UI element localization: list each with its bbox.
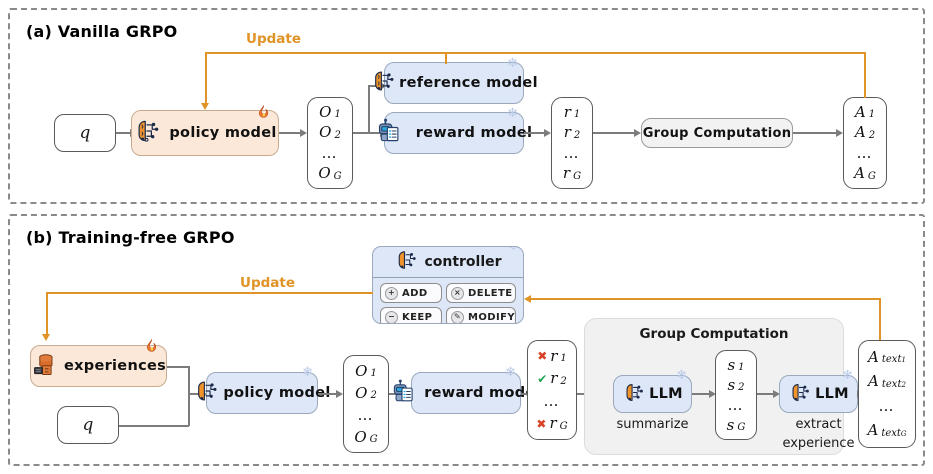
snowflake-icon: ❄ xyxy=(676,369,687,382)
reward-model-box-a: reward model ❄ xyxy=(384,112,524,154)
rewards-stack-a: r1 r2 … rG xyxy=(551,97,593,189)
arrowhead-policy-outputs-b xyxy=(336,390,343,398)
database-archive-icon xyxy=(31,350,59,382)
arrowhead-update-policy-a xyxy=(201,103,209,110)
update-line-b-left xyxy=(46,292,48,336)
connector-policy-outputs-b xyxy=(318,393,338,395)
arrowhead-policy-outputs-a xyxy=(300,129,307,137)
advantages-item: … xyxy=(857,146,874,161)
controller-action-add[interactable]: + ADD xyxy=(380,283,442,303)
text-advantages-item: Atext1 xyxy=(868,350,906,365)
connector-policy-outputs-a xyxy=(279,132,302,134)
reward-model-label-a: reward model xyxy=(416,125,533,141)
query-box-b: q xyxy=(57,406,119,444)
update-line-b-to-controller xyxy=(530,298,881,300)
group-computation-label-b: Group Computation xyxy=(585,326,843,342)
text-advantages-item: … xyxy=(879,399,896,414)
policy-model-box-a: policy model xyxy=(131,110,279,156)
advantages-item: A1 xyxy=(855,105,875,120)
llm-summarize-box: LLM ❄ xyxy=(613,375,692,413)
reference-model-box-a: reference model ❄ xyxy=(384,62,524,104)
rewards-item: ✖rG xyxy=(536,416,567,431)
snowflake-icon: ❄ xyxy=(507,57,518,70)
update-label-b: Update xyxy=(240,275,295,291)
update-label-a: Update xyxy=(246,31,301,47)
llm-summarize-caption: summarize xyxy=(613,417,692,432)
connector-merge-vertical-b xyxy=(188,366,190,426)
controller-action-label: MODIFY xyxy=(468,312,515,323)
controller-actions: + ADD × DELETE − KEEP ✎ MODIFY xyxy=(373,278,523,324)
experiences-box: experiences xyxy=(30,345,167,387)
outputs-item: O1 xyxy=(319,105,341,120)
query-label-a: q xyxy=(80,123,91,143)
controller-action-keep[interactable]: − KEEP xyxy=(380,307,442,324)
outputs-item: O2 xyxy=(355,386,377,401)
text-advantages-item: Atext2 xyxy=(868,374,906,389)
snowflake-icon: ❄ xyxy=(507,107,518,120)
arrowhead-groupcomp-advantages-a xyxy=(836,129,843,137)
snowflake-icon: ❄ xyxy=(302,366,313,379)
outputs-item: OG xyxy=(318,166,341,181)
controller-action-label: KEEP xyxy=(402,312,432,323)
group-computation-box-a: Group Computation xyxy=(641,118,793,148)
close-icon: × xyxy=(451,287,464,300)
plus-icon: + xyxy=(385,287,398,300)
arrowhead-update-experiences-b xyxy=(42,334,50,341)
update-line-a-left xyxy=(205,52,207,105)
snowflake-icon: ❄ xyxy=(508,246,519,253)
brain-circuit-icon xyxy=(622,381,645,408)
controller-action-label: DELETE xyxy=(468,288,512,299)
brain-circuit-icon xyxy=(394,248,418,276)
robot-checklist-icon xyxy=(391,378,418,409)
text-advantages-stack-b: Atext1 Atext2 … AtextG xyxy=(858,340,916,448)
llm-summarize-label: LLM xyxy=(649,386,683,402)
robot-checklist-icon xyxy=(376,117,404,149)
llm-extract-caption-line2: experience xyxy=(769,436,868,451)
rewards-item: ✔r2 xyxy=(537,371,567,386)
connector-outputs-branch-a xyxy=(353,132,369,134)
snowflake-icon: ❄ xyxy=(505,366,516,379)
experiences-label: experiences xyxy=(64,358,166,374)
controller-label: controller xyxy=(424,254,501,270)
outputs-item: … xyxy=(322,146,339,161)
figure-canvas: (a) Vanilla GRPO q policy model xyxy=(0,0,933,474)
outputs-stack-b: O1 O2 … OG xyxy=(343,355,389,453)
summaries-item: s2 xyxy=(727,378,744,393)
arrowhead-reward-rewards-a xyxy=(544,129,551,137)
query-label-b: q xyxy=(83,415,94,435)
controller-box: controller ❄ + ADD × DELETE − KEEP ✎ MOD… xyxy=(372,246,524,324)
outputs-item: OG xyxy=(354,430,377,445)
reward-model-box-b: reward model ❄ xyxy=(411,372,521,414)
summaries-item: sG xyxy=(727,418,746,433)
group-computation-label-a: Group Computation xyxy=(643,126,792,141)
cross-icon: ✖ xyxy=(536,418,546,430)
llm-extract-label: LLM xyxy=(815,386,849,402)
outputs-item: O2 xyxy=(319,125,341,140)
brain-circuit-icon xyxy=(193,378,219,408)
update-line-b-right xyxy=(879,298,881,344)
snowflake-icon: ❄ xyxy=(842,369,853,382)
rewards-item: ✖r1 xyxy=(537,349,567,364)
connector-q-policy-a xyxy=(116,132,131,134)
brain-circuit-icon xyxy=(788,381,811,408)
arrowhead-update-controller-b xyxy=(524,295,531,303)
update-line-b-top xyxy=(46,292,373,294)
query-box-a: q xyxy=(54,114,116,152)
cross-icon: ✖ xyxy=(537,350,547,362)
outputs-item: … xyxy=(358,408,375,423)
flame-icon xyxy=(255,104,272,124)
policy-model-label-b: policy model xyxy=(223,385,330,401)
rewards-item: r1 xyxy=(564,105,581,120)
text-advantages-item: AtextG xyxy=(867,423,906,438)
update-line-a-branch-reference xyxy=(445,52,447,64)
controller-action-delete[interactable]: × DELETE xyxy=(446,283,516,303)
update-line-a-right xyxy=(864,52,866,98)
panel-a-title: (a) Vanilla GRPO xyxy=(26,22,178,41)
connector-rewards-groupcomp-a xyxy=(593,132,637,134)
policy-model-label-a: policy model xyxy=(169,125,276,141)
advantages-item: A2 xyxy=(855,125,875,140)
check-icon: ✔ xyxy=(537,373,547,385)
update-line-a-top xyxy=(205,52,866,54)
brain-circuit-icon xyxy=(133,117,161,149)
connector-groupcomp-advantages-a xyxy=(793,132,838,134)
summaries-item: … xyxy=(728,398,745,413)
policy-model-box-b: policy model ❄ xyxy=(206,372,318,414)
rewards-item: … xyxy=(564,146,581,161)
connector-reward-rewards-a xyxy=(524,132,546,134)
controller-header: controller ❄ xyxy=(373,247,523,278)
connector-query-merge-b xyxy=(119,425,189,427)
panel-b-title: (b) Training-free GRPO xyxy=(26,228,235,247)
flame-icon xyxy=(143,338,160,358)
controller-action-label: ADD xyxy=(402,288,428,299)
minus-icon: − xyxy=(385,311,398,324)
advantages-item: AG xyxy=(854,166,876,181)
rewards-item: … xyxy=(544,394,561,409)
rewards-stack-b: ✖r1 ✔r2 … ✖rG xyxy=(527,340,577,440)
reference-model-label-a: reference model xyxy=(399,75,538,91)
summaries-item: s1 xyxy=(727,358,744,373)
outputs-item: O1 xyxy=(355,364,377,379)
connector-experiences-merge-b xyxy=(167,366,189,368)
pencil-icon: ✎ xyxy=(451,311,464,324)
summaries-stack-b: s1 s2 … sG xyxy=(715,350,757,440)
controller-action-modify[interactable]: ✎ MODIFY xyxy=(446,307,516,324)
rewards-item: r2 xyxy=(564,125,581,140)
brain-circuit-icon xyxy=(370,68,396,98)
outputs-stack-a: O1 O2 … OG xyxy=(307,97,353,189)
rewards-item: rG xyxy=(563,166,581,181)
advantages-stack-a: A1 A2 … AG xyxy=(843,97,887,189)
llm-extract-box: LLM ❄ xyxy=(779,375,858,413)
llm-extract-caption-line1: extract xyxy=(779,417,858,432)
arrowhead-rewards-groupcomp-a xyxy=(634,129,641,137)
